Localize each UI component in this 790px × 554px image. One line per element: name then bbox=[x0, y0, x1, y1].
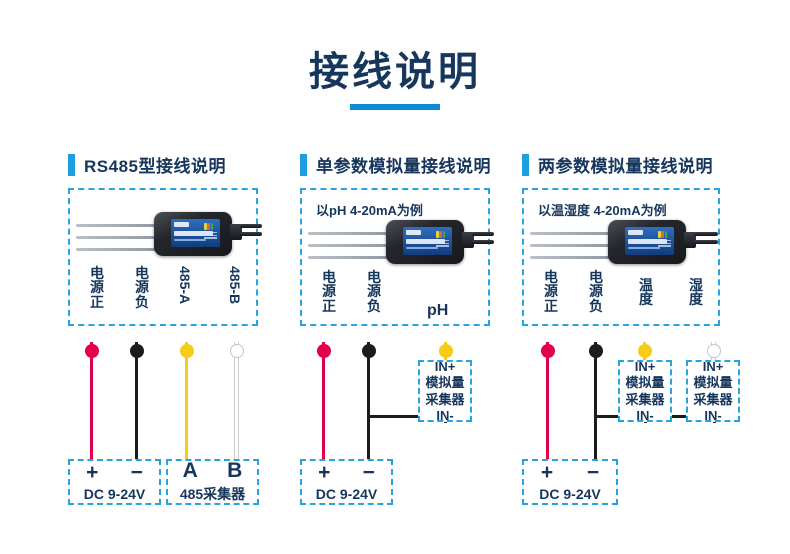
sensor-subtitle-text bbox=[628, 247, 660, 250]
section-accent-bar bbox=[522, 154, 529, 176]
power-supply-box-rs485: + − DC 9-24V bbox=[68, 459, 161, 505]
power-plus-symbol: + bbox=[541, 462, 553, 483]
sensor-label-panel bbox=[403, 227, 451, 255]
analog-in-negative: IN- bbox=[436, 408, 453, 423]
sensor-color-chips bbox=[204, 223, 217, 230]
sensor-cable bbox=[694, 240, 718, 244]
wire-signal-a bbox=[185, 342, 188, 466]
terminal-label-temperature: 温度 bbox=[637, 278, 655, 307]
sensor-cable bbox=[694, 232, 718, 236]
wire-power-negative bbox=[135, 342, 138, 466]
device-box-rs485: 电源正 电源负 485-A 485-B bbox=[68, 188, 258, 326]
wire-node-signal-temperature bbox=[638, 344, 652, 358]
terminal-label-power-negative: 电源负 bbox=[587, 270, 605, 313]
power-supply-caption: DC 9-24V bbox=[539, 486, 600, 502]
example-note-dual-analog: 以温湿度 4-20mA为例 bbox=[538, 200, 667, 219]
terminal-label-power-positive: 电源正 bbox=[320, 270, 338, 313]
power-minus-symbol: − bbox=[363, 462, 375, 483]
section-accent-bar bbox=[300, 154, 307, 176]
terminal-label-ph: pH bbox=[427, 302, 448, 320]
power-supply-box-dual-analog: + − DC 9-24V bbox=[522, 459, 618, 505]
sensor-spec-bars bbox=[658, 240, 671, 248]
section-title-text: 单参数模拟量接线说明 bbox=[316, 152, 491, 177]
wire-node-signal-analog bbox=[439, 344, 453, 358]
wire-node-power-positive bbox=[541, 344, 555, 358]
wiring-diagram-page: 接线说明 RS485型接线说明 bbox=[0, 0, 790, 554]
wire-node-power-negative bbox=[362, 344, 376, 358]
sensor-cable bbox=[472, 232, 494, 236]
section-accent-bar bbox=[68, 154, 75, 176]
analog-collector-line1: 模拟量 bbox=[693, 375, 732, 390]
wire-node-signal-a bbox=[180, 344, 194, 358]
wire-node-signal-b bbox=[230, 344, 244, 358]
power-supply-caption: DC 9-24V bbox=[316, 486, 377, 502]
wire-power-positive bbox=[546, 342, 549, 466]
wire-node-power-negative bbox=[589, 344, 603, 358]
rs485-a-symbol: A bbox=[183, 460, 198, 481]
analog-collector-line1: 模拟量 bbox=[625, 375, 664, 390]
sensor-brand-mark bbox=[406, 230, 421, 234]
wire-power-positive bbox=[90, 342, 93, 466]
title-underline bbox=[350, 104, 440, 110]
sensor-cable bbox=[240, 224, 262, 228]
sensor-subtitle-text bbox=[406, 247, 438, 250]
power-terminal-row: + − bbox=[302, 462, 391, 483]
sensor-label-panel bbox=[171, 219, 219, 247]
analog-collector-box-1: IN+ 模拟量 采集器 IN- bbox=[418, 360, 472, 422]
sensor-brand-mark bbox=[174, 222, 189, 226]
sensor-label-panel bbox=[625, 227, 673, 255]
analog-in-negative: IN- bbox=[636, 408, 653, 423]
section-title-text: RS485型接线说明 bbox=[84, 152, 226, 177]
power-minus-symbol: − bbox=[131, 462, 143, 483]
analog-collector-box-2: IN+ 模拟量 采集器 IN- bbox=[686, 360, 740, 422]
analog-collector-line2: 采集器 bbox=[693, 392, 732, 407]
sensor-color-chips bbox=[658, 231, 671, 238]
rs485-collector-box: A B 485采集器 bbox=[166, 459, 259, 505]
analog-collector-line2: 采集器 bbox=[625, 392, 664, 407]
device-box-dual-analog: 以温湿度 4-20mA为例 电源正 电源负 bbox=[522, 188, 720, 326]
analog-collector-line2: 采集器 bbox=[425, 392, 464, 407]
power-supply-box-single-analog: + − DC 9-24V bbox=[300, 459, 393, 505]
page-title: 接线说明 bbox=[0, 48, 790, 96]
rs485-terminal-row: A B bbox=[168, 460, 257, 481]
analog-in-positive: IN+ bbox=[435, 359, 456, 374]
terminal-label-485a: 485-A bbox=[177, 266, 193, 304]
sensor-spec-bars bbox=[436, 240, 449, 248]
section-title-text: 两参数模拟量接线说明 bbox=[538, 152, 713, 177]
power-terminal-row: + − bbox=[524, 462, 616, 483]
device-box-single-analog: 以pH 4-20mA为例 电源正 电源负 pH bbox=[300, 188, 490, 326]
sensor-cable bbox=[472, 240, 494, 244]
wire-signal-b bbox=[234, 342, 239, 466]
section-header-dual-analog: 两参数模拟量接线说明 bbox=[522, 152, 713, 177]
wire-node-power-negative bbox=[130, 344, 144, 358]
wire-power-positive bbox=[322, 342, 325, 466]
terminal-label-power-positive: 电源正 bbox=[542, 270, 560, 313]
power-plus-symbol: + bbox=[318, 462, 330, 483]
sensor-color-chips bbox=[436, 231, 449, 238]
analog-in-positive: IN+ bbox=[635, 359, 656, 374]
sensor-cable bbox=[240, 232, 262, 236]
analog-in-positive: IN+ bbox=[703, 359, 724, 374]
sensor-body bbox=[386, 220, 464, 264]
power-terminal-row: + − bbox=[70, 462, 159, 483]
wire-node-power-positive bbox=[317, 344, 331, 358]
section-header-rs485: RS485型接线说明 bbox=[68, 152, 226, 177]
rs485-b-symbol: B bbox=[227, 460, 242, 481]
sensor-spec-bars bbox=[204, 232, 217, 240]
wire-node-signal-humidity bbox=[707, 344, 721, 358]
sensor-body bbox=[608, 220, 686, 264]
sensor-subtitle-text bbox=[174, 239, 206, 242]
analog-in-negative: IN- bbox=[704, 408, 721, 423]
sensor-body bbox=[154, 212, 232, 256]
terminal-label-power-negative: 电源负 bbox=[133, 266, 151, 309]
terminal-label-power-negative: 电源负 bbox=[365, 270, 383, 313]
wire-node-power-positive bbox=[85, 344, 99, 358]
analog-collector-box-1: IN+ 模拟量 采集器 IN- bbox=[618, 360, 672, 422]
power-supply-caption: DC 9-24V bbox=[84, 486, 145, 502]
section-header-single-analog: 单参数模拟量接线说明 bbox=[300, 152, 491, 177]
analog-collector-line1: 模拟量 bbox=[425, 375, 464, 390]
sensor-brand-mark bbox=[628, 230, 643, 234]
power-minus-symbol: − bbox=[587, 462, 599, 483]
example-note-single-analog: 以pH 4-20mA为例 bbox=[316, 200, 423, 219]
terminal-label-485b: 485-B bbox=[227, 266, 243, 304]
terminal-label-humidity: 湿度 bbox=[687, 278, 705, 307]
rs485-collector-caption: 485采集器 bbox=[180, 484, 245, 504]
power-plus-symbol: + bbox=[86, 462, 98, 483]
terminal-label-power-positive: 电源正 bbox=[88, 266, 106, 309]
